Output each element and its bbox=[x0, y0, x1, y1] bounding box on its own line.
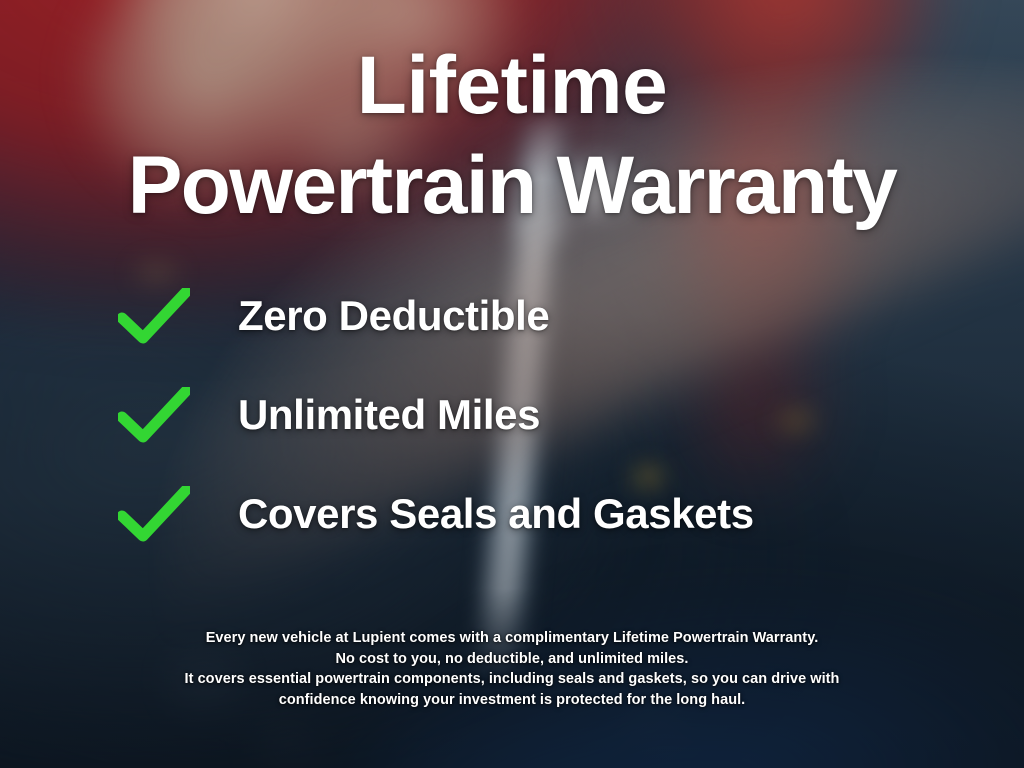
disclaimer-line-3: It covers essential powertrain component… bbox=[0, 669, 1024, 690]
list-item-label: Zero Deductible bbox=[238, 292, 549, 340]
list-item: Unlimited Miles bbox=[118, 384, 754, 446]
checkmark-icon bbox=[118, 288, 190, 344]
list-item: Zero Deductible bbox=[118, 285, 754, 347]
list-item: Covers Seals and Gaskets bbox=[118, 483, 754, 545]
page-title-line-1: Lifetime bbox=[0, 46, 1024, 126]
disclaimer-line-2: No cost to you, no deductible, and unlim… bbox=[0, 649, 1024, 670]
page-title-line-2: Powertrain Warranty bbox=[0, 146, 1024, 226]
list-item-label: Unlimited Miles bbox=[238, 391, 540, 439]
list-item-label: Covers Seals and Gaskets bbox=[238, 490, 754, 538]
disclaimer-line-4: confidence knowing your investment is pr… bbox=[0, 690, 1024, 711]
disclaimer-text: Every new vehicle at Lupient comes with … bbox=[0, 628, 1024, 710]
promo-banner: Lifetime Powertrain Warranty Zero Deduct… bbox=[0, 0, 1024, 768]
checkmark-icon bbox=[118, 387, 190, 443]
checkmark-icon bbox=[118, 486, 190, 542]
disclaimer-line-1: Every new vehicle at Lupient comes with … bbox=[0, 628, 1024, 649]
benefits-list: Zero Deductible Unlimited Miles Covers S… bbox=[118, 285, 754, 545]
